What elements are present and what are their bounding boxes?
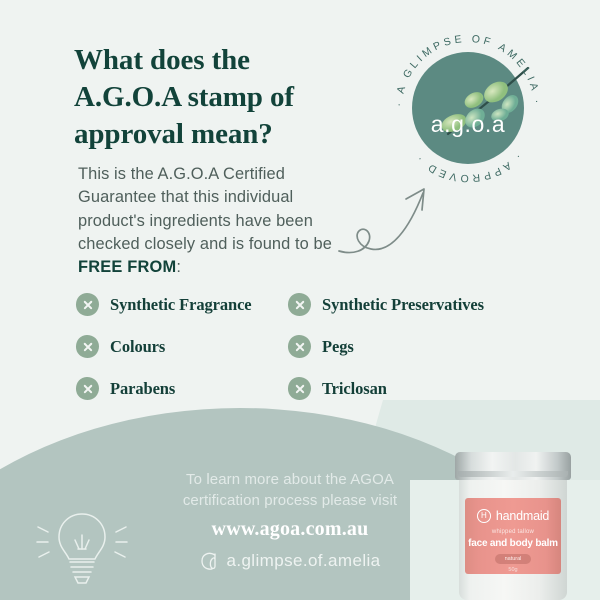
product-jar-image: handmaid whipped tallow face and body ba… [455,452,571,600]
list-item: Pegs [288,335,546,358]
jar-brand-name: handmaid [496,509,549,523]
list-item-label: Synthetic Fragrance [110,295,252,315]
jar-weight: 50g [465,567,561,573]
list-item-label: Parabens [110,379,175,399]
jar-label: handmaid whipped tallow face and body ba… [465,498,561,574]
free-from-row: Colours Pegs [76,335,546,358]
free-from-row: Synthetic Fragrance Synthetic Preservati… [76,293,546,316]
body-paragraph: This is the A.G.O.A Certified Guarantee … [78,163,356,279]
stamp-center-text: a.g.o.a [431,111,506,137]
x-circle-icon [288,293,311,316]
list-item: Synthetic Fragrance [76,293,288,316]
x-circle-icon [76,293,99,316]
website-url[interactable]: www.agoa.com.au [150,518,430,541]
x-circle-icon [76,335,99,358]
jar-product-name: face and body balm [465,538,561,549]
h-monogram-icon [477,509,491,523]
lightbulb-icon [34,502,130,594]
page-title-line-3: approval mean? [74,116,374,153]
social-handle[interactable]: a.glimpse.of.amelia [150,548,430,574]
list-item: Colours [76,335,288,358]
list-item-label: Pegs [322,337,354,357]
list-item: Parabens [76,377,288,400]
x-circle-icon [288,377,311,400]
footer-line-2: certification process please visit [150,491,430,512]
list-item-label: Triclosan [322,379,387,399]
at-sign-icon [199,548,221,574]
x-circle-icon [76,377,99,400]
list-item-label: Synthetic Preservatives [322,295,484,315]
body-paragraph-emphasis: FREE FROM [78,258,176,276]
jar-subtitle: whipped tallow [465,529,561,535]
curly-arrow-icon [335,163,445,261]
footer-line-1: To learn more about the AGOA [150,470,430,491]
social-handle-text: a.glimpse.of.amelia [226,551,380,571]
jar-lid [455,452,571,480]
infographic-canvas: What does the A.G.O.A stamp of approval … [0,0,600,600]
list-item-label: Colours [110,337,165,357]
body-paragraph-text: This is the A.G.O.A Certified Guarantee … [78,165,332,253]
free-from-list: Synthetic Fragrance Synthetic Preservati… [76,293,546,419]
page-title-line-1: What does the [74,42,374,79]
jar-variant-badge: natural [495,554,531,564]
list-item: Triclosan [288,377,546,400]
page-title: What does the A.G.O.A stamp of approval … [74,42,374,152]
jar-brand-row: handmaid [465,509,561,523]
x-circle-icon [288,335,311,358]
free-from-row: Parabens Triclosan [76,377,546,400]
footer: To learn more about the AGOA certificati… [150,470,430,574]
body-paragraph-suffix: : [176,258,181,276]
list-item: Synthetic Preservatives [288,293,546,316]
page-title-line-2: A.G.O.A stamp of [74,79,374,116]
